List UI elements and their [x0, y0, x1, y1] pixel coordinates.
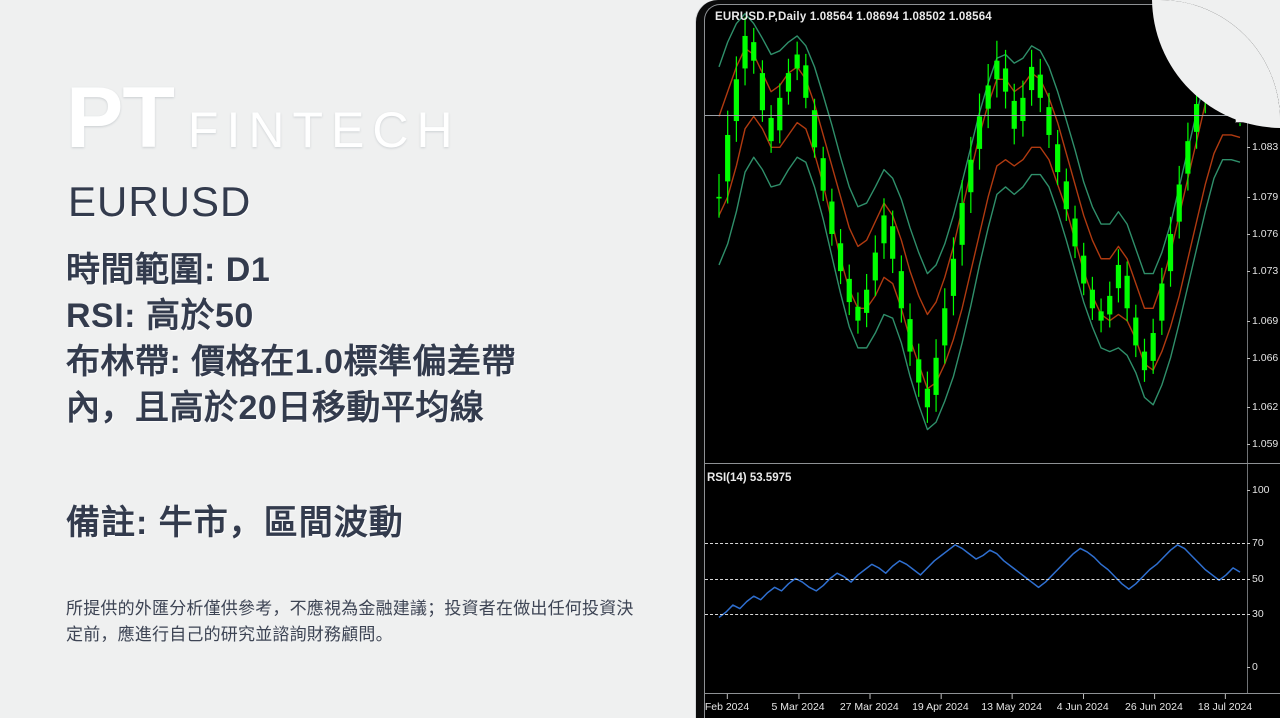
- rsi-header-label: RSI(14) 53.5975: [707, 472, 791, 484]
- analysis-spec-list: 時間範圍: D1 RSI: 高於50 布林帶: 價格在1.0標準偏差帶 內，且高…: [66, 248, 666, 432]
- price-axis-tick: 1.073: [1252, 265, 1278, 277]
- price-plot-svg: [705, 5, 1250, 463]
- time-axis-tick: 4 Jun 2024: [1057, 701, 1109, 713]
- analysis-remark: 備註: 牛市，區間波動: [66, 495, 404, 544]
- price-axis-tick: 1.062: [1252, 401, 1278, 413]
- pane-divider: [705, 463, 1280, 464]
- brand-primary-text: PT: [66, 78, 174, 160]
- brand-secondary-text: FINTECH: [188, 105, 461, 155]
- rsi-axis-tick: 70: [1252, 537, 1264, 549]
- price-pane: 1.0931.0891.0861.0831.0791.0761.0731.069…: [705, 5, 1280, 463]
- page-title: EURUSD: [68, 178, 251, 226]
- time-axis-tick: Feb 2024: [705, 701, 749, 713]
- spec-line-rsi: RSI: 高於50: [66, 294, 666, 340]
- spec-line-bollinger-a: 布林帶: 價格在1.0標準偏差帶: [66, 340, 666, 386]
- rsi-axis: 1007050300: [1247, 464, 1280, 693]
- price-axis-tick: 1.069: [1252, 315, 1278, 327]
- rsi-reference-line: [705, 579, 1250, 580]
- price-axis-tick: 1.059: [1252, 438, 1278, 450]
- price-axis: 1.0931.0891.0861.0831.0791.0761.0731.069…: [1247, 5, 1280, 463]
- brand-logo: PT FINTECH: [66, 78, 461, 160]
- analysis-panel: PT FINTECH EURUSD 時間範圍: D1 RSI: 高於50 布林帶…: [0, 0, 700, 718]
- time-axis-tick: 5 Mar 2024: [772, 701, 825, 713]
- rsi-reference-line: [705, 614, 1250, 615]
- rsi-axis-tick: 100: [1252, 484, 1270, 496]
- rsi-axis-tick: 0: [1252, 661, 1258, 673]
- price-axis-tick: 1.076: [1252, 228, 1278, 240]
- price-axis-tick: 1.079: [1252, 191, 1278, 203]
- page-root: PT FINTECH EURUSD 時間範圍: D1 RSI: 高於50 布林帶…: [0, 0, 1280, 718]
- time-axis-tick: 26 Jun 2024: [1125, 701, 1183, 713]
- time-axis-tick: 19 Apr 2024: [912, 701, 969, 713]
- spec-line-timeframe: 時間範圍: D1: [66, 248, 666, 294]
- chart-panel: EURUSD.P,Daily 1.08564 1.08694 1.08502 1…: [696, 0, 1280, 718]
- price-axis-tick: 1.066: [1252, 352, 1278, 364]
- rsi-pane: RSI(14) 53.5975 1007050300: [705, 464, 1280, 693]
- rsi-axis-tick: 50: [1252, 573, 1264, 585]
- time-axis: Feb 20245 Mar 202427 Mar 202419 Apr 2024…: [705, 693, 1280, 718]
- disclaimer-text: 所提供的外匯分析僅供參考，不應視為金融建議；投資者在做出任何投資決定前，應進行自…: [66, 596, 641, 647]
- price-axis-tick: 1.093: [1252, 18, 1278, 30]
- chart-header-label: EURUSD.P,Daily 1.08564 1.08694 1.08502 1…: [715, 11, 992, 23]
- rsi-axis-tick: 30: [1252, 608, 1264, 620]
- rsi-reference-line: [705, 543, 1250, 544]
- time-axis-tick: 18 Jul 2024: [1198, 701, 1252, 713]
- time-axis-tick: 13 May 2024: [981, 701, 1042, 713]
- current-price-tag: 1.0856: [1235, 107, 1280, 123]
- current-price-level-line: [705, 115, 1250, 116]
- spec-line-bollinger-b: 內，且高於20日移動平均線: [66, 386, 666, 432]
- chart-canvas[interactable]: EURUSD.P,Daily 1.08564 1.08694 1.08502 1…: [704, 4, 1280, 718]
- price-axis-tick: 1.089: [1252, 67, 1278, 79]
- time-axis-tick: 27 Mar 2024: [840, 701, 899, 713]
- price-axis-tick: 1.083: [1252, 141, 1278, 153]
